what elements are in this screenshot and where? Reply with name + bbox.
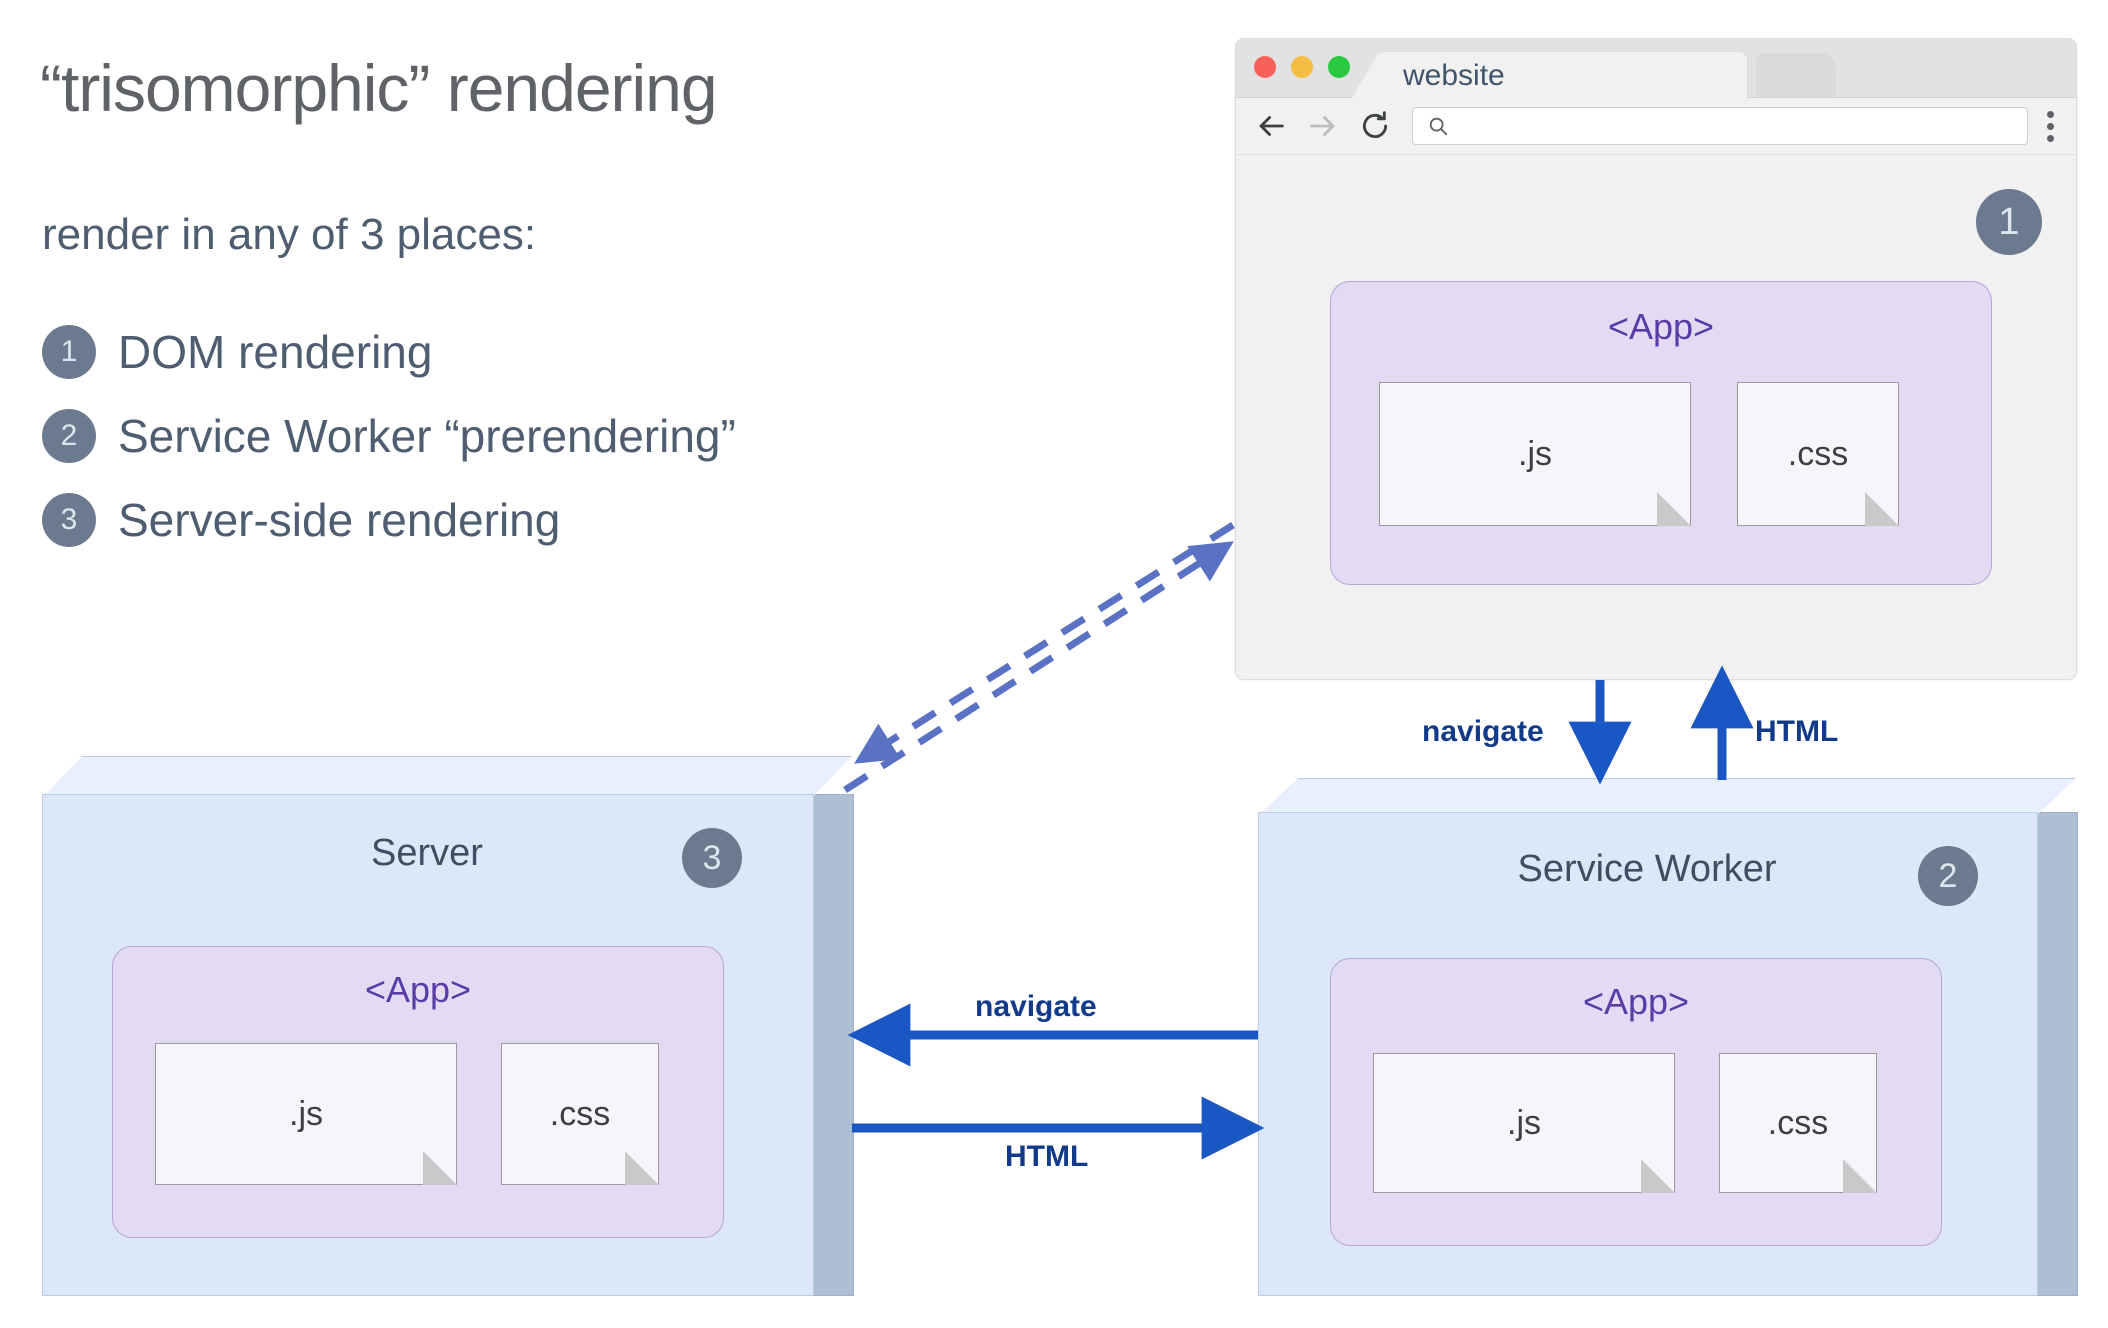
js-file-icon: .js [155, 1043, 457, 1185]
label-navigate-browser-sw: navigate [1422, 715, 1544, 749]
list-item-label: Service Worker “prerendering” [118, 409, 736, 463]
subtitle: render in any of 3 places: [42, 210, 536, 260]
search-icon [1427, 115, 1449, 137]
list-item-label: Server-side rendering [118, 493, 560, 547]
app-label: <App> [113, 969, 723, 1011]
server-box: Server 3 <App> .js .css [42, 756, 852, 1296]
js-file-label: .js [289, 1095, 323, 1134]
list-item-label: DOM rendering [118, 325, 432, 379]
css-file-label: .css [1788, 435, 1848, 474]
list-item: 3 Server-side rendering [42, 478, 736, 562]
js-file-icon: .js [1373, 1053, 1675, 1193]
label-html-sw-browser: HTML [1755, 715, 1838, 749]
js-file-icon: .js [1379, 382, 1691, 526]
server-app-panel: <App> .js .css [112, 946, 724, 1238]
kebab-menu-icon[interactable] [2046, 111, 2054, 142]
reload-icon[interactable] [1358, 109, 1392, 143]
page-fold-corner [1657, 492, 1691, 526]
list-item: 1 DOM rendering [42, 310, 736, 394]
render-places-list: 1 DOM rendering 2 Service Worker “preren… [42, 310, 736, 562]
tab-website[interactable]: website [1376, 51, 1748, 99]
diagram-canvas: “trisomorphic” rendering render in any o… [0, 0, 2108, 1328]
browser-titlebar: website [1236, 39, 2076, 98]
label-navigate-sw-server: navigate [975, 990, 1097, 1024]
js-file-label: .js [1518, 435, 1552, 474]
forward-arrow-icon[interactable] [1306, 109, 1340, 143]
address-bar[interactable] [1412, 107, 2028, 145]
back-arrow-icon[interactable] [1254, 109, 1288, 143]
label-html-server-sw: HTML [1005, 1140, 1088, 1174]
maximize-window-icon[interactable] [1328, 56, 1350, 78]
list-number-badge: 2 [42, 409, 96, 463]
page-fold-corner [1843, 1159, 1877, 1193]
close-window-icon[interactable] [1254, 56, 1276, 78]
page-title: “trisomorphic” rendering [40, 52, 717, 125]
browser-window: website [1235, 38, 2077, 680]
sw-step-badge: 2 [1918, 846, 1978, 906]
service-worker-box: Service Worker 2 <App> .js .css [1258, 778, 2076, 1296]
list-item: 2 Service Worker “prerendering” [42, 394, 736, 478]
js-file-label: .js [1507, 1104, 1541, 1143]
window-controls [1254, 56, 1350, 78]
page-fold-corner [1641, 1159, 1675, 1193]
css-file-icon: .css [1719, 1053, 1877, 1193]
arrow-server-to-browser-dashed [845, 545, 1228, 790]
list-number-badge: 3 [42, 493, 96, 547]
css-file-icon: .css [501, 1043, 659, 1185]
app-label: <App> [1331, 981, 1941, 1023]
browser-viewport: 1 <App> .js .css [1236, 155, 2076, 679]
sw-app-panel: <App> .js .css [1330, 958, 1942, 1246]
list-number-badge: 1 [42, 325, 96, 379]
server-box-side-face [812, 794, 854, 1296]
server-step-badge: 3 [682, 828, 742, 888]
page-fold-corner [1865, 492, 1899, 526]
page-fold-corner [625, 1151, 659, 1185]
browser-app-panel: <App> .js .css [1330, 281, 1992, 585]
arrow-browser-to-server-dashed [860, 525, 1233, 760]
new-tab-placeholder[interactable] [1756, 53, 1836, 97]
css-file-label: .css [550, 1095, 610, 1134]
css-file-label: .css [1768, 1104, 1828, 1143]
app-label: <App> [1331, 306, 1991, 348]
page-fold-corner [423, 1151, 457, 1185]
browser-toolbar [1236, 98, 2076, 155]
sw-box-side-face [2036, 812, 2078, 1296]
css-file-icon: .css [1737, 382, 1899, 526]
browser-step-badge: 1 [1976, 189, 2042, 255]
tab-title: website [1403, 59, 1505, 93]
minimize-window-icon[interactable] [1291, 56, 1313, 78]
